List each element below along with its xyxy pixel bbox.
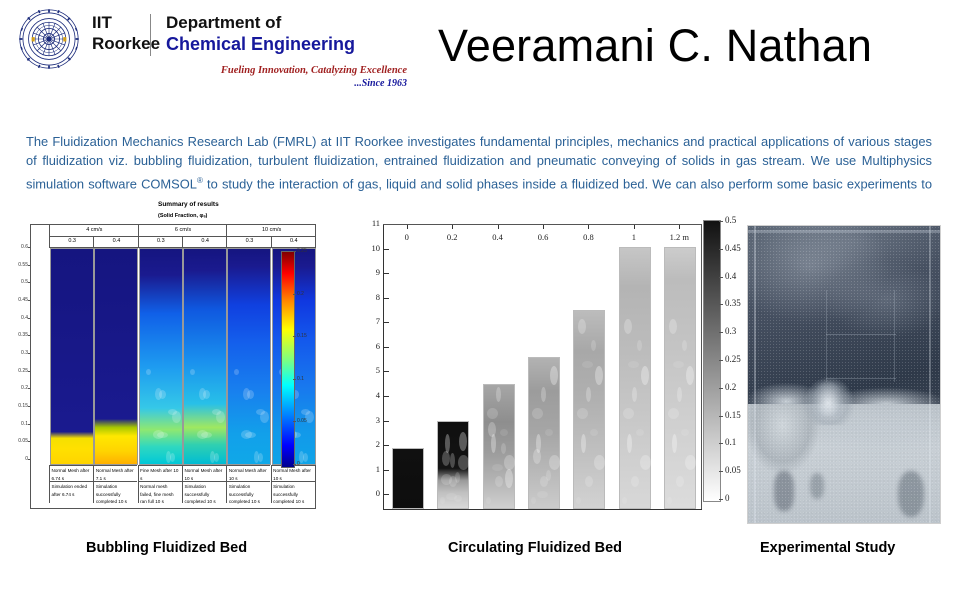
figure2-colorbar-label: 0.45 [725, 243, 741, 253]
figure2-colorbar-tick [719, 471, 723, 472]
figure2-cluster [531, 497, 536, 504]
figure1-colorbar-label: 0.05 [297, 418, 307, 424]
figure2-colorbar-tick [719, 388, 723, 389]
figure2-cluster [681, 429, 689, 436]
figure1-y-tick-mark [28, 388, 31, 389]
figure1-bubble [190, 369, 195, 375]
figure2-cluster [576, 497, 581, 504]
figure1-simulation-image [183, 248, 227, 465]
figure2-cluster [622, 497, 627, 504]
figure1-colorbar-tick [293, 379, 296, 380]
figure1-colorbar-label: 0.15 [297, 333, 307, 339]
figure1-colorbar-tick [293, 294, 296, 295]
figure1-bubble [168, 409, 177, 415]
figure1-bubble [210, 451, 215, 463]
figure2-bed-column [619, 247, 651, 509]
figure2-cluster [496, 387, 501, 402]
figure2-cluster [550, 366, 558, 385]
figure2-colorbar-tick [719, 332, 723, 333]
figure2-colorbar-label: 0.15 [725, 410, 741, 420]
figure2-cluster [640, 455, 651, 470]
figure1-simulation-image [94, 248, 138, 465]
figure2-cluster [632, 387, 637, 402]
figure2-y-tick-mark [384, 249, 389, 250]
figure2-y-tick-label: 5 [376, 365, 380, 375]
figure2-bed-column [437, 421, 469, 509]
department-prefix: Department of [166, 12, 355, 33]
figure2-cluster [595, 366, 603, 385]
figure2-colorbar-label: 0.1 [725, 437, 736, 447]
figure2-bed-column [573, 310, 605, 509]
tagline-text: Fueling Innovation, Catalyzing Excellenc… [221, 65, 407, 76]
figure1-frame: 0.60.550.50.450.40.350.30.250.20.150.10.… [30, 224, 316, 509]
figure1-bubble [258, 453, 263, 462]
figure1-bubble [234, 369, 239, 375]
figure2-y-tick-label: 10 [372, 243, 381, 253]
figure2-cluster [590, 429, 598, 436]
figure2-cluster [669, 319, 677, 334]
figure1-velocity-header-row: 4 cm/s6 cm/s10 cm/s [49, 225, 315, 236]
figure2-x-tick-label: 0 [405, 232, 409, 242]
figure1-y-axis: 0.60.550.50.450.40.350.30.250.20.150.10.… [11, 247, 31, 465]
figure1-note-top: Fine Mesh after 10 s [138, 465, 182, 481]
figure2-cluster [628, 361, 639, 368]
figure2-y-tick-label: 6 [376, 341, 380, 351]
figure2-cluster [442, 451, 450, 466]
figure2-y-tick-label: 7 [376, 316, 380, 326]
figure1-bubble [301, 409, 310, 415]
figure2-cluster [624, 319, 632, 334]
figure2-x-tick-label: 1 [632, 232, 636, 242]
figure2-cluster [591, 340, 596, 351]
figure2-bed-column [392, 448, 424, 509]
figure2-cluster [459, 432, 467, 451]
figure1-results-table: 0.60.550.50.450.40.350.30.250.20.150.10.… [31, 225, 315, 508]
page-title: Veeramani C. Nathan [438, 20, 872, 72]
figure2-y-tick-label: 2 [376, 439, 380, 449]
figure1-title: Summary of results [158, 201, 219, 208]
figure2-cluster [585, 476, 593, 487]
figure2-colorbar-label: 0.05 [725, 465, 741, 475]
photo-grain-texture [748, 226, 940, 523]
figure1-fraction-header: 0.4 [182, 236, 227, 248]
figure2-cluster [682, 340, 687, 351]
figure2-y-tick-mark [384, 298, 389, 299]
figure2-cluster [578, 319, 586, 334]
figure2-cluster [685, 455, 696, 470]
figure2-cluster [672, 434, 677, 453]
figure2-colorbar-label: 0 [725, 493, 730, 503]
figure1-note-bottom: Simulation ended after 6.74 s [49, 481, 93, 503]
figure2-colorbar-tick [719, 277, 723, 278]
figure2-colorbar [703, 220, 721, 502]
figure2-y-tick-label: 8 [376, 292, 380, 302]
header-divider [150, 14, 151, 56]
figure2-cluster [537, 491, 548, 498]
figure2-x-tick-label: 1.2 m [670, 232, 689, 242]
figure1-bubble [166, 451, 171, 463]
figure1-y-tick-label: 0.4 [10, 315, 28, 321]
figure1-colorbar-tick [293, 464, 296, 465]
figure1-subtitle: (Solid Fraction, φₔ) [158, 213, 207, 219]
figure2-y-tick-mark [384, 494, 389, 495]
figure1-y-tick-label: 0.35 [10, 332, 28, 338]
figure2-cluster [541, 387, 546, 402]
figure1-fraction-header: 0.3 [226, 236, 271, 248]
figure2-cluster [495, 476, 503, 487]
figure1-note-bottom: Simulation successfully completed 10 s [271, 481, 315, 503]
figure1-y-tick-mark [28, 318, 31, 319]
figure1-y-tick-label: 0.55 [10, 262, 28, 268]
figure2-cluster [641, 366, 649, 385]
figure2-colorbar-label: 0.35 [725, 298, 741, 308]
figure1-bubble [199, 388, 206, 400]
figure2-cluster [676, 476, 684, 487]
figure1-colorbar-label: 0 [297, 461, 300, 467]
figure2-cluster [668, 408, 679, 419]
figure1-colorbar-tick [293, 251, 296, 252]
figure1-note-bottom: Simulation successfully completed 10 s [93, 481, 137, 503]
figure2-y-tick-label: 0 [376, 488, 380, 498]
figure2-plot-area: 11109876543210 00.20.40.60.811.2 m [383, 224, 702, 510]
figure1-note-top: Normal Mesh after 10 s [226, 465, 270, 481]
figure2-cluster [637, 340, 642, 351]
figure2-colorbar-tick [719, 304, 723, 305]
figure2-cluster [458, 455, 469, 470]
since-text: ...Since 1963 [192, 77, 407, 90]
figure1-fraction-header: 0.4 [271, 236, 316, 248]
figure2-colorbar-tick [719, 360, 723, 361]
figure2-cluster [686, 366, 694, 385]
figure1-simulation-image [139, 248, 183, 465]
department-block: Department of Chemical Engineering [166, 12, 355, 55]
figure1-colorbar [281, 251, 295, 468]
figure1-colorbar-label: 0.1 [297, 376, 304, 382]
figure1-y-tick-mark [28, 247, 31, 248]
page-header: IIT Roorkee Department of Chemical Engin… [0, 0, 960, 108]
figure2-colorbar-label: 0.25 [725, 354, 741, 364]
figure-bubbling-fluidized-bed: Summary of results (Solid Fraction, φₔ) … [8, 198, 348, 523]
figure2-cluster [623, 408, 634, 419]
figure2-cluster [486, 497, 491, 504]
figure1-y-tick-label: 0.6 [10, 244, 28, 250]
figure1-colorbar-label: 0.25 [297, 248, 307, 254]
figure1-note-top: Normal Mesh after 6.74 s [49, 465, 93, 481]
figure2-y-tick-mark [384, 470, 389, 471]
department-tagline: Fueling Innovation, Catalyzing Excellenc… [192, 64, 407, 90]
figure2-cluster [627, 434, 632, 453]
figure1-colorbar-tick [293, 336, 296, 337]
figure1-bubble [153, 430, 164, 439]
figure1-y-tick-mark [28, 406, 31, 407]
figure2-y-tick-label: 1 [376, 464, 380, 474]
figure2-y-tick-label: 3 [376, 415, 380, 425]
figure1-note-top: Normal Mesh after 10 s [182, 465, 226, 481]
figure2-y-tick-mark [384, 396, 389, 397]
figure1-y-tick-label: 0.25 [10, 368, 28, 374]
figure1-y-tick-mark [28, 459, 31, 460]
caption-circulating-fluidized-bed: Circulating Fluidized Bed [448, 540, 622, 556]
figure1-y-tick-mark [28, 282, 31, 283]
figure-experimental-study [747, 225, 941, 524]
figure2-cluster [577, 408, 588, 419]
figure2-colorbar-label: 0.5 [725, 215, 736, 225]
figure2-colorbar-label: 0.4 [725, 271, 736, 281]
figure2-bed-column [664, 247, 696, 509]
figure1-y-tick-mark [28, 335, 31, 336]
figure2-colorbar-tick [719, 249, 723, 250]
figure2-y-tick-label: 9 [376, 267, 380, 277]
figure2-x-tick-label: 0.4 [492, 232, 503, 242]
figure2-y-tick-mark [384, 322, 389, 323]
figure2-x-tick-label: 0.6 [538, 232, 549, 242]
figure1-fraction-header: 0.4 [93, 236, 138, 248]
figure2-cluster [488, 422, 496, 437]
figure1-bubble [155, 388, 162, 400]
figure2-x-tick-label: 0.8 [583, 232, 594, 242]
figure1-y-tick-label: 0.15 [10, 403, 28, 409]
figure2-colorbar-tick [719, 499, 723, 500]
figure2-colorbar-tick [719, 416, 723, 417]
figure2-y-tick-label: 4 [376, 390, 380, 400]
figure1-y-tick-mark [28, 300, 31, 301]
figure2-cluster [505, 469, 513, 488]
figure1-y-tick-mark [28, 424, 31, 425]
figure2-cluster [504, 455, 515, 470]
figure1-fraction-header: 0.3 [49, 236, 94, 248]
figure1-simulation-image [50, 248, 94, 465]
figure2-y-tick-mark [384, 273, 389, 274]
figure2-cluster [487, 408, 498, 419]
figure1-y-tick-mark [28, 441, 31, 442]
iit-roorkee-seal-icon [18, 8, 80, 70]
figure2-y-tick-mark [384, 371, 389, 372]
figure1-note-bottom: Simulation successfully completed 10 s [182, 481, 226, 503]
figure1-y-tick-mark [28, 371, 31, 372]
figure2-cluster [581, 434, 586, 453]
figure2-y-tick-label: 11 [372, 218, 380, 228]
figure2-x-tick-label: 0.2 [447, 232, 458, 242]
figure2-cluster [673, 361, 684, 368]
figure1-fraction-header: 0.3 [138, 236, 183, 248]
caption-experimental-study: Experimental Study [760, 540, 895, 556]
figure1-y-tick-mark [28, 353, 31, 354]
figure1-colorbar-label: 0.2 [297, 291, 304, 297]
figure-circulating-fluidized-bed: 11109876543210 00.20.40.60.811.2 m 0.50.… [355, 216, 745, 526]
figure1-y-tick-label: 0.1 [10, 421, 28, 427]
fluidized-bed-experiment-photo [748, 226, 940, 523]
figure2-y-tick-mark [384, 347, 389, 348]
figure1-y-tick-label: 0.05 [10, 438, 28, 444]
figure2-cluster [549, 455, 560, 470]
figure2-colorbar-label: 0.3 [725, 326, 736, 336]
caption-bubbling-fluidized-bed: Bubbling Fluidized Bed [86, 540, 247, 556]
figure1-bubble [197, 430, 208, 439]
figure2-cluster [500, 429, 508, 436]
figure2-cluster [677, 387, 682, 402]
figure2-cluster [546, 470, 551, 481]
figure1-note-bottom: Normal mesh failed, fine mesh ran full 1… [138, 481, 182, 503]
figure2-y-tick-mark [384, 421, 389, 422]
figure2-top-border [383, 224, 701, 225]
figure1-y-tick-label: 0.2 [10, 385, 28, 391]
figure2-colorbar-tick [719, 443, 723, 444]
figure2-cluster [545, 429, 553, 436]
figure1-bubble [212, 409, 221, 415]
department-name: Chemical Engineering [166, 33, 355, 55]
figure1-fraction-header-row: 0.30.40.30.40.30.4 [49, 236, 315, 247]
figure1-simulation-image [227, 248, 271, 465]
figure2-bed-column [528, 357, 560, 509]
figure2-colorbar-label: 0.2 [725, 382, 736, 392]
figure1-note-top: Normal Mesh after 7.1 s [93, 465, 137, 481]
figure2-cluster [667, 497, 672, 504]
figure2-cluster [501, 443, 506, 454]
figure2-right-border [701, 224, 702, 509]
figure1-y-tick-label: 0 [10, 456, 28, 462]
figure1-colorbar-tick [293, 421, 296, 422]
figure1-note-bottom: Simulation successfully completed 10 s [226, 481, 270, 503]
figure2-cluster [594, 455, 605, 470]
figure2-cluster [631, 476, 639, 487]
figure1-bubble [146, 369, 151, 375]
figure2-cluster [492, 464, 503, 471]
figure2-cluster [636, 429, 644, 436]
figure2-cluster [450, 453, 455, 468]
figure1-y-tick-label: 0.45 [10, 297, 28, 303]
figures-row: Summary of results (Solid Fraction, φₔ) … [0, 198, 960, 598]
figure2-cluster [582, 361, 593, 368]
figure2-cluster [586, 387, 591, 402]
figure2-cluster [532, 408, 543, 419]
figure2-y-tick-mark [384, 445, 389, 446]
figure1-y-tick-mark [28, 265, 31, 266]
figure1-y-tick-label: 0.3 [10, 350, 28, 356]
figure2-cluster [440, 497, 445, 504]
figure1-y-tick-label: 0.5 [10, 279, 28, 285]
figure2-cluster [455, 472, 460, 483]
figure2-cluster [533, 449, 541, 464]
figure2-colorbar-tick [719, 221, 723, 222]
figure2-bed-column [483, 384, 515, 509]
